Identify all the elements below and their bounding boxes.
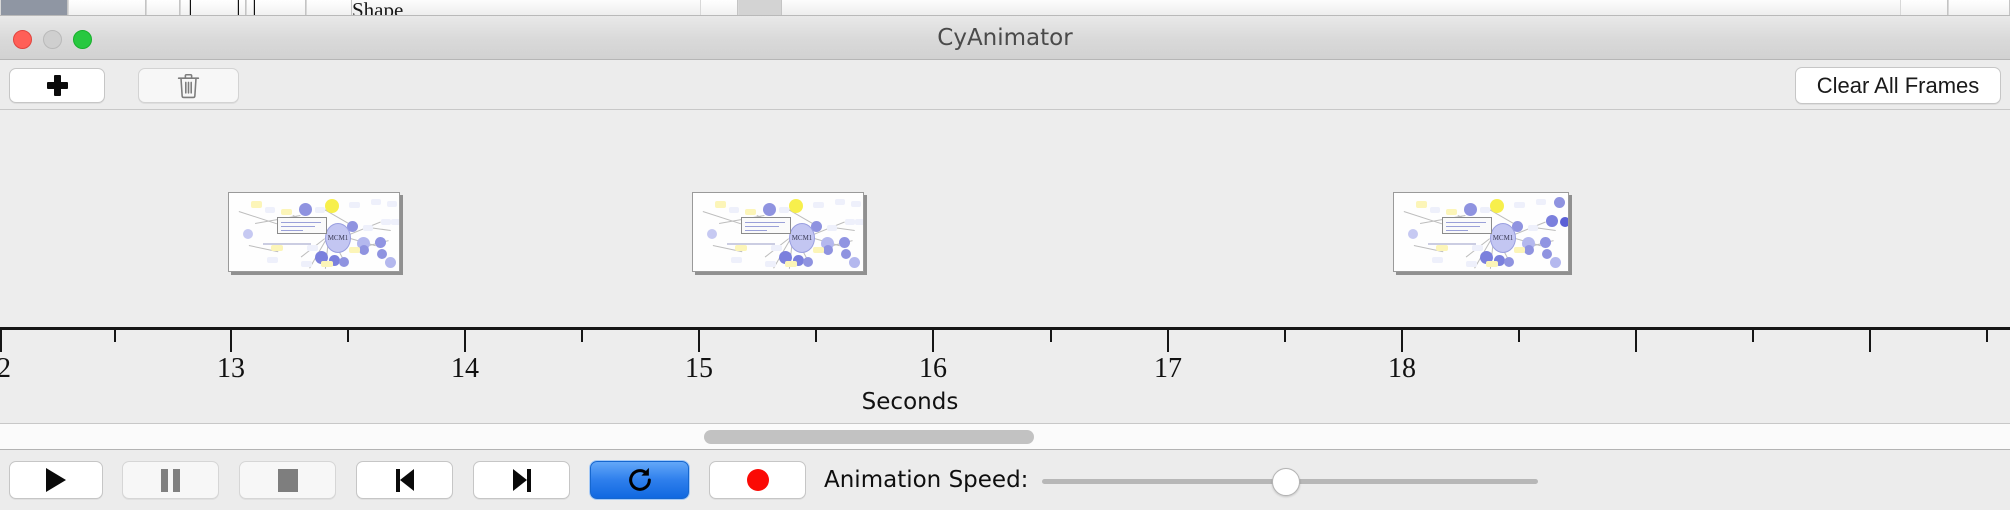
background-tab-1 bbox=[68, 0, 146, 16]
scrollbar-thumb[interactable] bbox=[704, 430, 1034, 444]
stop-icon bbox=[278, 469, 298, 492]
ruler-tick-13 bbox=[230, 330, 232, 352]
skip-back-button[interactable] bbox=[356, 461, 453, 499]
tooltip-box-3 bbox=[1442, 217, 1492, 234]
record-button[interactable] bbox=[709, 461, 806, 499]
animation-speed-label: Animation Speed: bbox=[824, 450, 1028, 510]
cyanimator-window: CyAnimator Clear All Frames bbox=[0, 16, 2010, 510]
ruler-tick-15 bbox=[698, 330, 700, 352]
ruler-tick-17-5 bbox=[1284, 330, 1286, 342]
ruler-tick-14-5 bbox=[581, 330, 583, 342]
ruler-label-18: 18 bbox=[1388, 353, 1416, 385]
stop-button[interactable] bbox=[239, 461, 336, 499]
play-icon bbox=[46, 468, 66, 492]
pause-icon bbox=[161, 469, 180, 492]
ruler-tick-13-5 bbox=[347, 330, 349, 342]
network-thumbnail-3: MCM1 bbox=[1394, 193, 1568, 271]
axis-title-seconds: Seconds bbox=[0, 389, 2010, 415]
pause-button[interactable] bbox=[122, 461, 219, 499]
record-icon bbox=[747, 469, 769, 491]
ruler-tick-18-5 bbox=[1518, 330, 1520, 342]
timeline-frame-3[interactable]: MCM1 bbox=[1393, 192, 1569, 272]
background-tab-9 bbox=[1948, 0, 2010, 16]
ruler-label-16: 16 bbox=[919, 353, 947, 385]
tooltip-box-2 bbox=[741, 217, 791, 234]
ruler-tick-19-5 bbox=[1752, 330, 1754, 342]
background-tab-8 bbox=[1900, 0, 1948, 16]
timeline-horizontal-scrollbar[interactable] bbox=[0, 424, 2010, 450]
background-window-text: Shape bbox=[352, 0, 403, 16]
ruler-tick-12 bbox=[0, 330, 2, 352]
title-bar: CyAnimator bbox=[0, 16, 2010, 60]
background-tab-2 bbox=[146, 0, 180, 16]
ruler-tick-15-5 bbox=[815, 330, 817, 342]
background-window: | | | Shape bbox=[0, 0, 2010, 16]
add-frame-button[interactable] bbox=[9, 68, 105, 103]
tooltip-box-1 bbox=[277, 217, 327, 234]
ruler-tick-16-5 bbox=[1050, 330, 1052, 342]
frame-toolbar: Clear All Frames bbox=[0, 60, 2010, 110]
background-bar-glyph-3: | bbox=[252, 0, 257, 16]
skip-forward-button[interactable] bbox=[473, 461, 570, 499]
ruler-label-17: 17 bbox=[1154, 353, 1182, 385]
timeline-frame-2[interactable]: MCM1 bbox=[692, 192, 864, 272]
hub-node-label-3: MCM1 bbox=[1490, 223, 1516, 253]
network-thumbnail-1: MCM1 bbox=[229, 193, 399, 271]
ruler-tick-17 bbox=[1167, 330, 1169, 352]
timeline-canvas[interactable]: MCM1 bbox=[0, 110, 2010, 424]
skip-back-icon bbox=[394, 469, 416, 492]
playback-toolbar: Animation Speed: bbox=[0, 450, 2010, 510]
clear-all-frames-button[interactable]: Clear All Frames bbox=[1795, 67, 2001, 104]
skip-forward-icon bbox=[511, 469, 533, 492]
trash-icon bbox=[176, 72, 201, 100]
ruler-tick-19 bbox=[1635, 330, 1637, 352]
ruler-tick-14 bbox=[464, 330, 466, 352]
background-tab-5 bbox=[306, 0, 352, 16]
ruler-label-15: 15 bbox=[685, 353, 713, 385]
ruler-tick-20 bbox=[1869, 330, 1871, 352]
ruler-baseline bbox=[0, 327, 2010, 330]
window-title: CyAnimator bbox=[0, 16, 2010, 60]
hub-node-label-1: MCM1 bbox=[325, 223, 351, 253]
time-ruler[interactable]: 2 13 14 15 16 17 18 Seconds bbox=[0, 327, 2010, 423]
background-tab-7 bbox=[738, 0, 782, 16]
loop-button[interactable] bbox=[590, 461, 689, 499]
background-tab-6 bbox=[700, 0, 738, 16]
ruler-tick-18 bbox=[1401, 330, 1403, 352]
animation-speed-slider-thumb[interactable] bbox=[1272, 468, 1300, 496]
ruler-label-13: 13 bbox=[217, 353, 245, 385]
play-button[interactable] bbox=[9, 461, 103, 499]
background-bar-glyph-2: | bbox=[236, 0, 241, 16]
hub-node-label-2: MCM1 bbox=[789, 223, 815, 253]
delete-frame-button[interactable] bbox=[138, 68, 239, 103]
ruler-label-14: 14 bbox=[451, 353, 479, 385]
ruler-tick-20-5 bbox=[1986, 330, 1988, 342]
plus-icon bbox=[47, 75, 68, 96]
ruler-label-12: 2 bbox=[0, 353, 11, 385]
ruler-tick-12-5 bbox=[114, 330, 116, 342]
network-thumbnail-2: MCM1 bbox=[693, 193, 863, 271]
timeline-frame-1[interactable]: MCM1 bbox=[228, 192, 400, 272]
clear-all-frames-label: Clear All Frames bbox=[1817, 73, 1980, 99]
background-bar-glyph-1: | bbox=[188, 0, 193, 16]
background-tab-0 bbox=[0, 0, 68, 16]
ruler-tick-16 bbox=[932, 330, 934, 352]
loop-icon bbox=[626, 466, 654, 494]
